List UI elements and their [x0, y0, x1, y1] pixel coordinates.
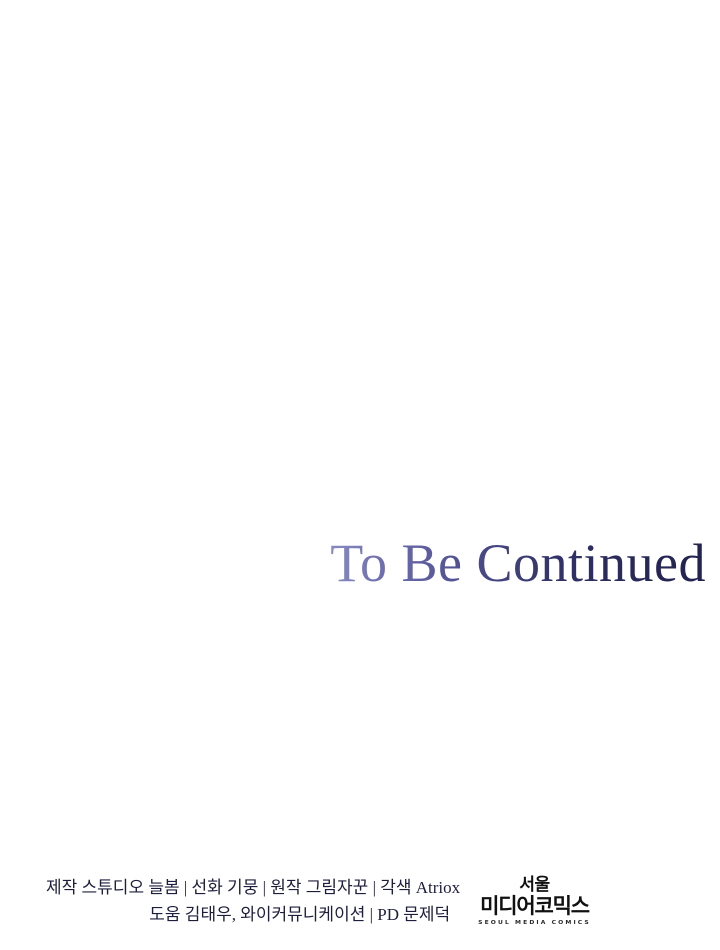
- publisher-logo-sub-line: SEOUL MEDIA COMICS: [478, 920, 591, 925]
- publisher-logo-main-line: 미디어코믹스: [478, 896, 591, 917]
- credit-line-support: 도움 김태우, 와이커뮤니케이션 | PD 문제덕: [46, 902, 460, 928]
- publisher-logo: 서울 미디어코믹스 SEOUL MEDIA COMICS: [478, 877, 591, 926]
- publisher-logo-top-line: 서울: [478, 877, 591, 894]
- credits-footer: 제작 스튜디오 늘봄 | 선화 기뭉 | 원작 그림자꾼 | 각색 Atriox…: [0, 875, 720, 928]
- comic-episode-end-page: To Be Continued 제작 스튜디오 늘봄 | 선화 기뭉 | 원작 …: [0, 0, 720, 950]
- to-be-continued-block: To Be Continued: [0, 536, 706, 590]
- credit-line-staff: 제작 스튜디오 늘봄 | 선화 기뭉 | 원작 그림자꾼 | 각색 Atriox: [46, 875, 460, 901]
- to-be-continued-text: To Be Continued: [330, 536, 706, 590]
- credit-lines: 제작 스튜디오 늘봄 | 선화 기뭉 | 원작 그림자꾼 | 각색 Atriox…: [46, 875, 460, 928]
